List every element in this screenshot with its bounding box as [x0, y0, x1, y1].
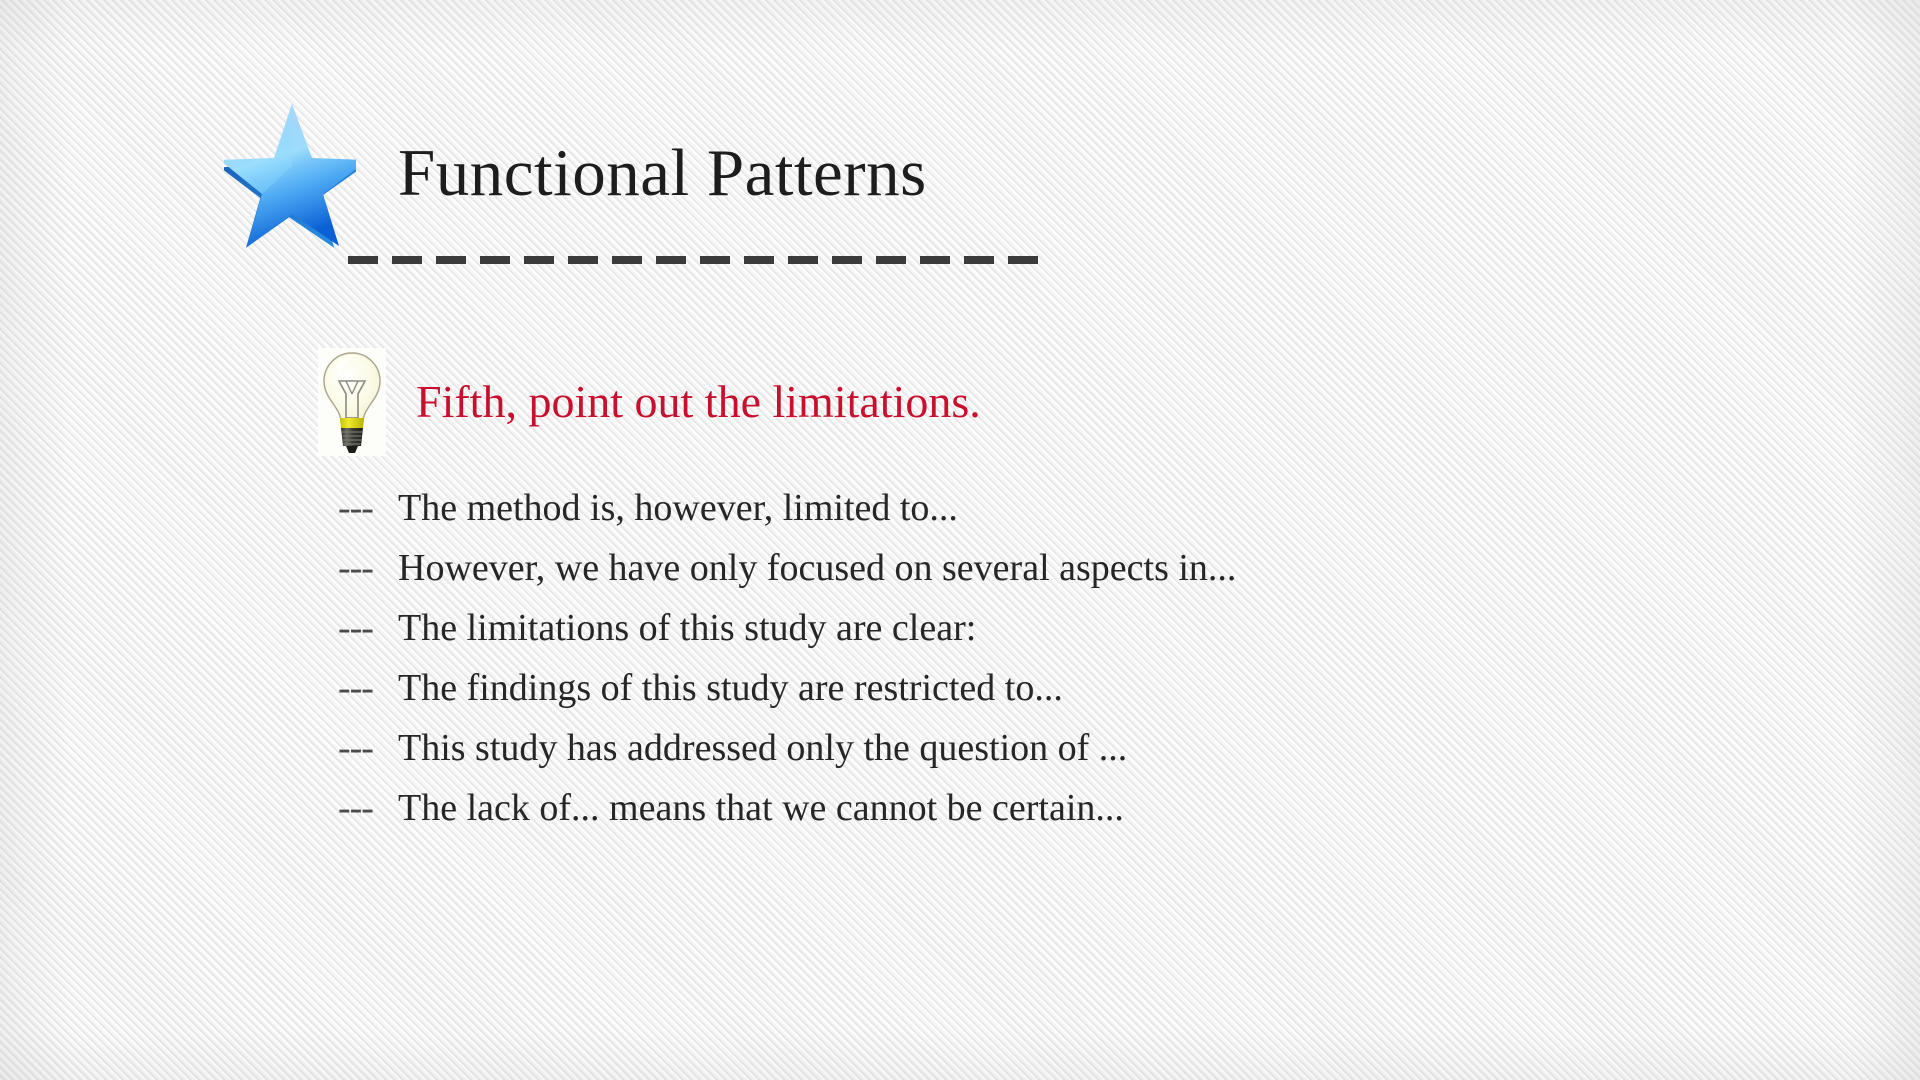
list-item-marker: ---	[338, 778, 398, 838]
slide-header: Functional Patterns	[200, 96, 1300, 286]
list-item-text: This study has addressed only the questi…	[398, 718, 1338, 778]
list-item-text: The limitations of this study are clear:	[398, 598, 1338, 658]
list-item: --- The findings of this study are restr…	[338, 658, 1338, 718]
list-item: --- The method is, however, limited to..…	[338, 478, 1338, 538]
list-item: --- The limitations of this study are cl…	[338, 598, 1338, 658]
list-item-marker: ---	[338, 598, 398, 658]
list-item-marker: ---	[338, 658, 398, 718]
list-item-marker: ---	[338, 538, 398, 598]
slide-canvas: Functional Patterns	[0, 0, 1920, 1080]
list-item-text: However, we have only focused on several…	[398, 538, 1338, 598]
body-list: --- The method is, however, limited to..…	[338, 478, 1338, 838]
list-item-text: The method is, however, limited to...	[398, 478, 1338, 538]
list-item: --- However, we have only focused on sev…	[338, 538, 1338, 598]
list-item: --- This study has addressed only the qu…	[338, 718, 1338, 778]
lead-statement: Fifth, point out the limitations.	[318, 348, 981, 456]
list-item-text: The lack of... means that we cannot be c…	[398, 778, 1338, 838]
list-item-text: The findings of this study are restricte…	[398, 658, 1338, 718]
list-item-marker: ---	[338, 478, 398, 538]
list-item-marker: ---	[338, 718, 398, 778]
page-title: Functional Patterns	[398, 138, 927, 208]
title-divider	[348, 256, 1050, 264]
list-item: --- The lack of... means that we cannot …	[338, 778, 1338, 838]
star-icon	[224, 96, 356, 248]
lightbulb-icon	[318, 348, 386, 456]
lead-statement-text: Fifth, point out the limitations.	[416, 379, 981, 425]
